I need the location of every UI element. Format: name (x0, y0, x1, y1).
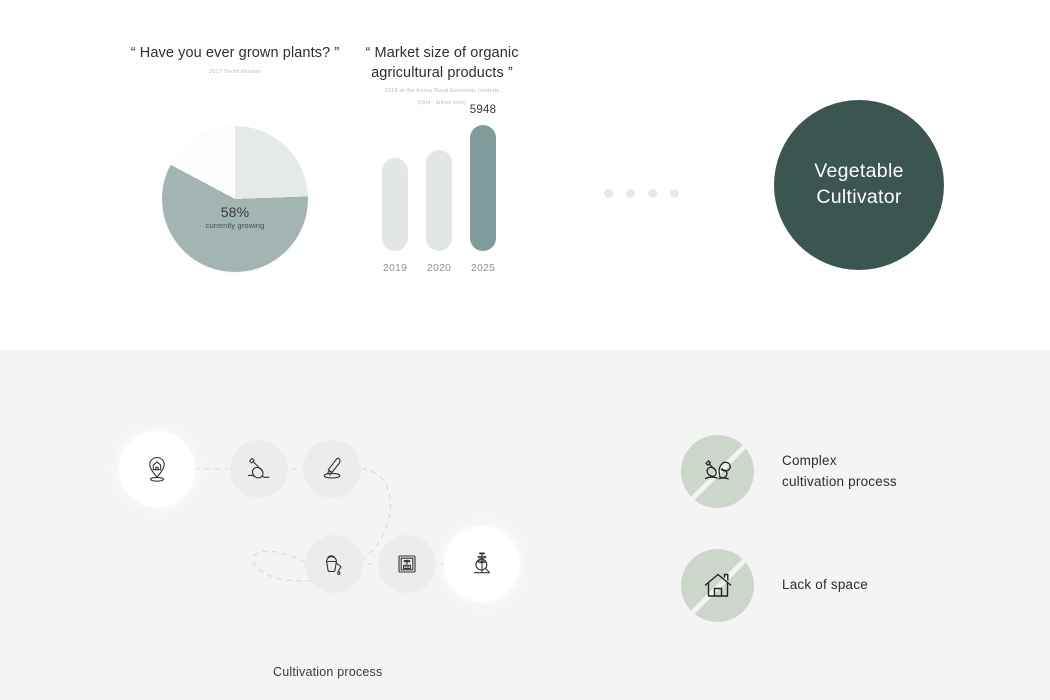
connector-dot (626, 189, 635, 198)
bar-tick-label: 2019 (382, 262, 408, 274)
dot-connector (604, 189, 679, 198)
bar-column-2020: 2020 (426, 150, 452, 274)
bar-tick-label: 2025 (470, 262, 496, 274)
connector-dot (604, 189, 613, 198)
bar-shape (382, 158, 408, 251)
pie-stat-title: “ Have you ever grown plants? ” (120, 44, 350, 64)
pain-point-text: Lack of space (782, 575, 868, 596)
pie-chart-graphic (162, 126, 308, 272)
pain-point-line1: Complex (782, 451, 897, 472)
plant-trowel-prohibited-icon (695, 449, 741, 495)
plant-trowel-prohibited-badge (681, 435, 754, 508)
house-prohibited-badge (681, 549, 754, 622)
pain-point-text: Complex cultivation process (782, 451, 897, 493)
pie-stat-block: “ Have you ever grown plants? ” 2017 Tre… (120, 44, 350, 76)
research-stats-section: “ Have you ever grown plants? ” 2017 Tre… (0, 0, 1050, 350)
bar-stat-title-line2: agricultural products ” (356, 64, 528, 84)
connector-dot (670, 189, 679, 198)
brand-title-line2: Cultivator (816, 186, 901, 210)
presentation-slide: “ Have you ever grown plants? ” 2017 Tre… (0, 0, 1050, 700)
pain-point-list: Complex cultivation process (681, 435, 897, 663)
bar-column-2025: 2025 (470, 125, 496, 274)
pain-point-line1: Lack of space (782, 575, 868, 596)
shovel-digging-icon (243, 453, 275, 485)
process-and-painpoints-section: Cultivation process (0, 350, 1050, 700)
hand-planting-seed-icon (316, 453, 348, 485)
bar-shape (470, 125, 496, 251)
location-pin-house-icon (140, 452, 174, 486)
bar-stat-title-line1: “ Market size of organic (356, 44, 528, 64)
bar-column-2019: 2019 (382, 158, 408, 274)
magnifier-plant-icon (465, 547, 499, 581)
watering-can-icon (318, 548, 350, 580)
brand-title-line1: Vegetable (814, 160, 903, 184)
connector-dot (648, 189, 657, 198)
bar-shape (426, 150, 452, 251)
pie-chart: 58% currently growing (162, 126, 308, 272)
seed-packet-icon (391, 548, 423, 580)
brand-circle: Vegetable Cultivator (774, 100, 944, 270)
flow-caption: Cultivation process (273, 665, 382, 679)
pain-point-item: Lack of space (681, 549, 897, 622)
bar-stat-block: “ Market size of organic agricultural pr… (356, 44, 528, 107)
cultivation-process-flow: Cultivation process (100, 410, 600, 640)
flow-step-seed-packet[interactable] (378, 535, 436, 593)
flow-step-inspect[interactable] (450, 532, 514, 596)
bar-tick-label: 2020 (426, 262, 452, 274)
flow-step-planting[interactable] (303, 440, 361, 498)
bar-stat-source-line1: 2018 at the Korea Rural Economic Institu… (356, 87, 528, 95)
house-prohibited-icon (695, 563, 741, 609)
pain-point-line2: cultivation process (782, 472, 897, 493)
flow-step-digging[interactable] (230, 440, 288, 498)
pain-point-item: Complex cultivation process (681, 435, 897, 508)
pie-stat-source: 2017 Trend Monitor (120, 68, 350, 76)
bar-value-label: 5948 (462, 104, 504, 116)
flow-step-location[interactable] (125, 437, 189, 501)
flow-step-watering[interactable] (305, 535, 363, 593)
bar-chart: 5948 2019 2020 2025 (370, 104, 516, 274)
